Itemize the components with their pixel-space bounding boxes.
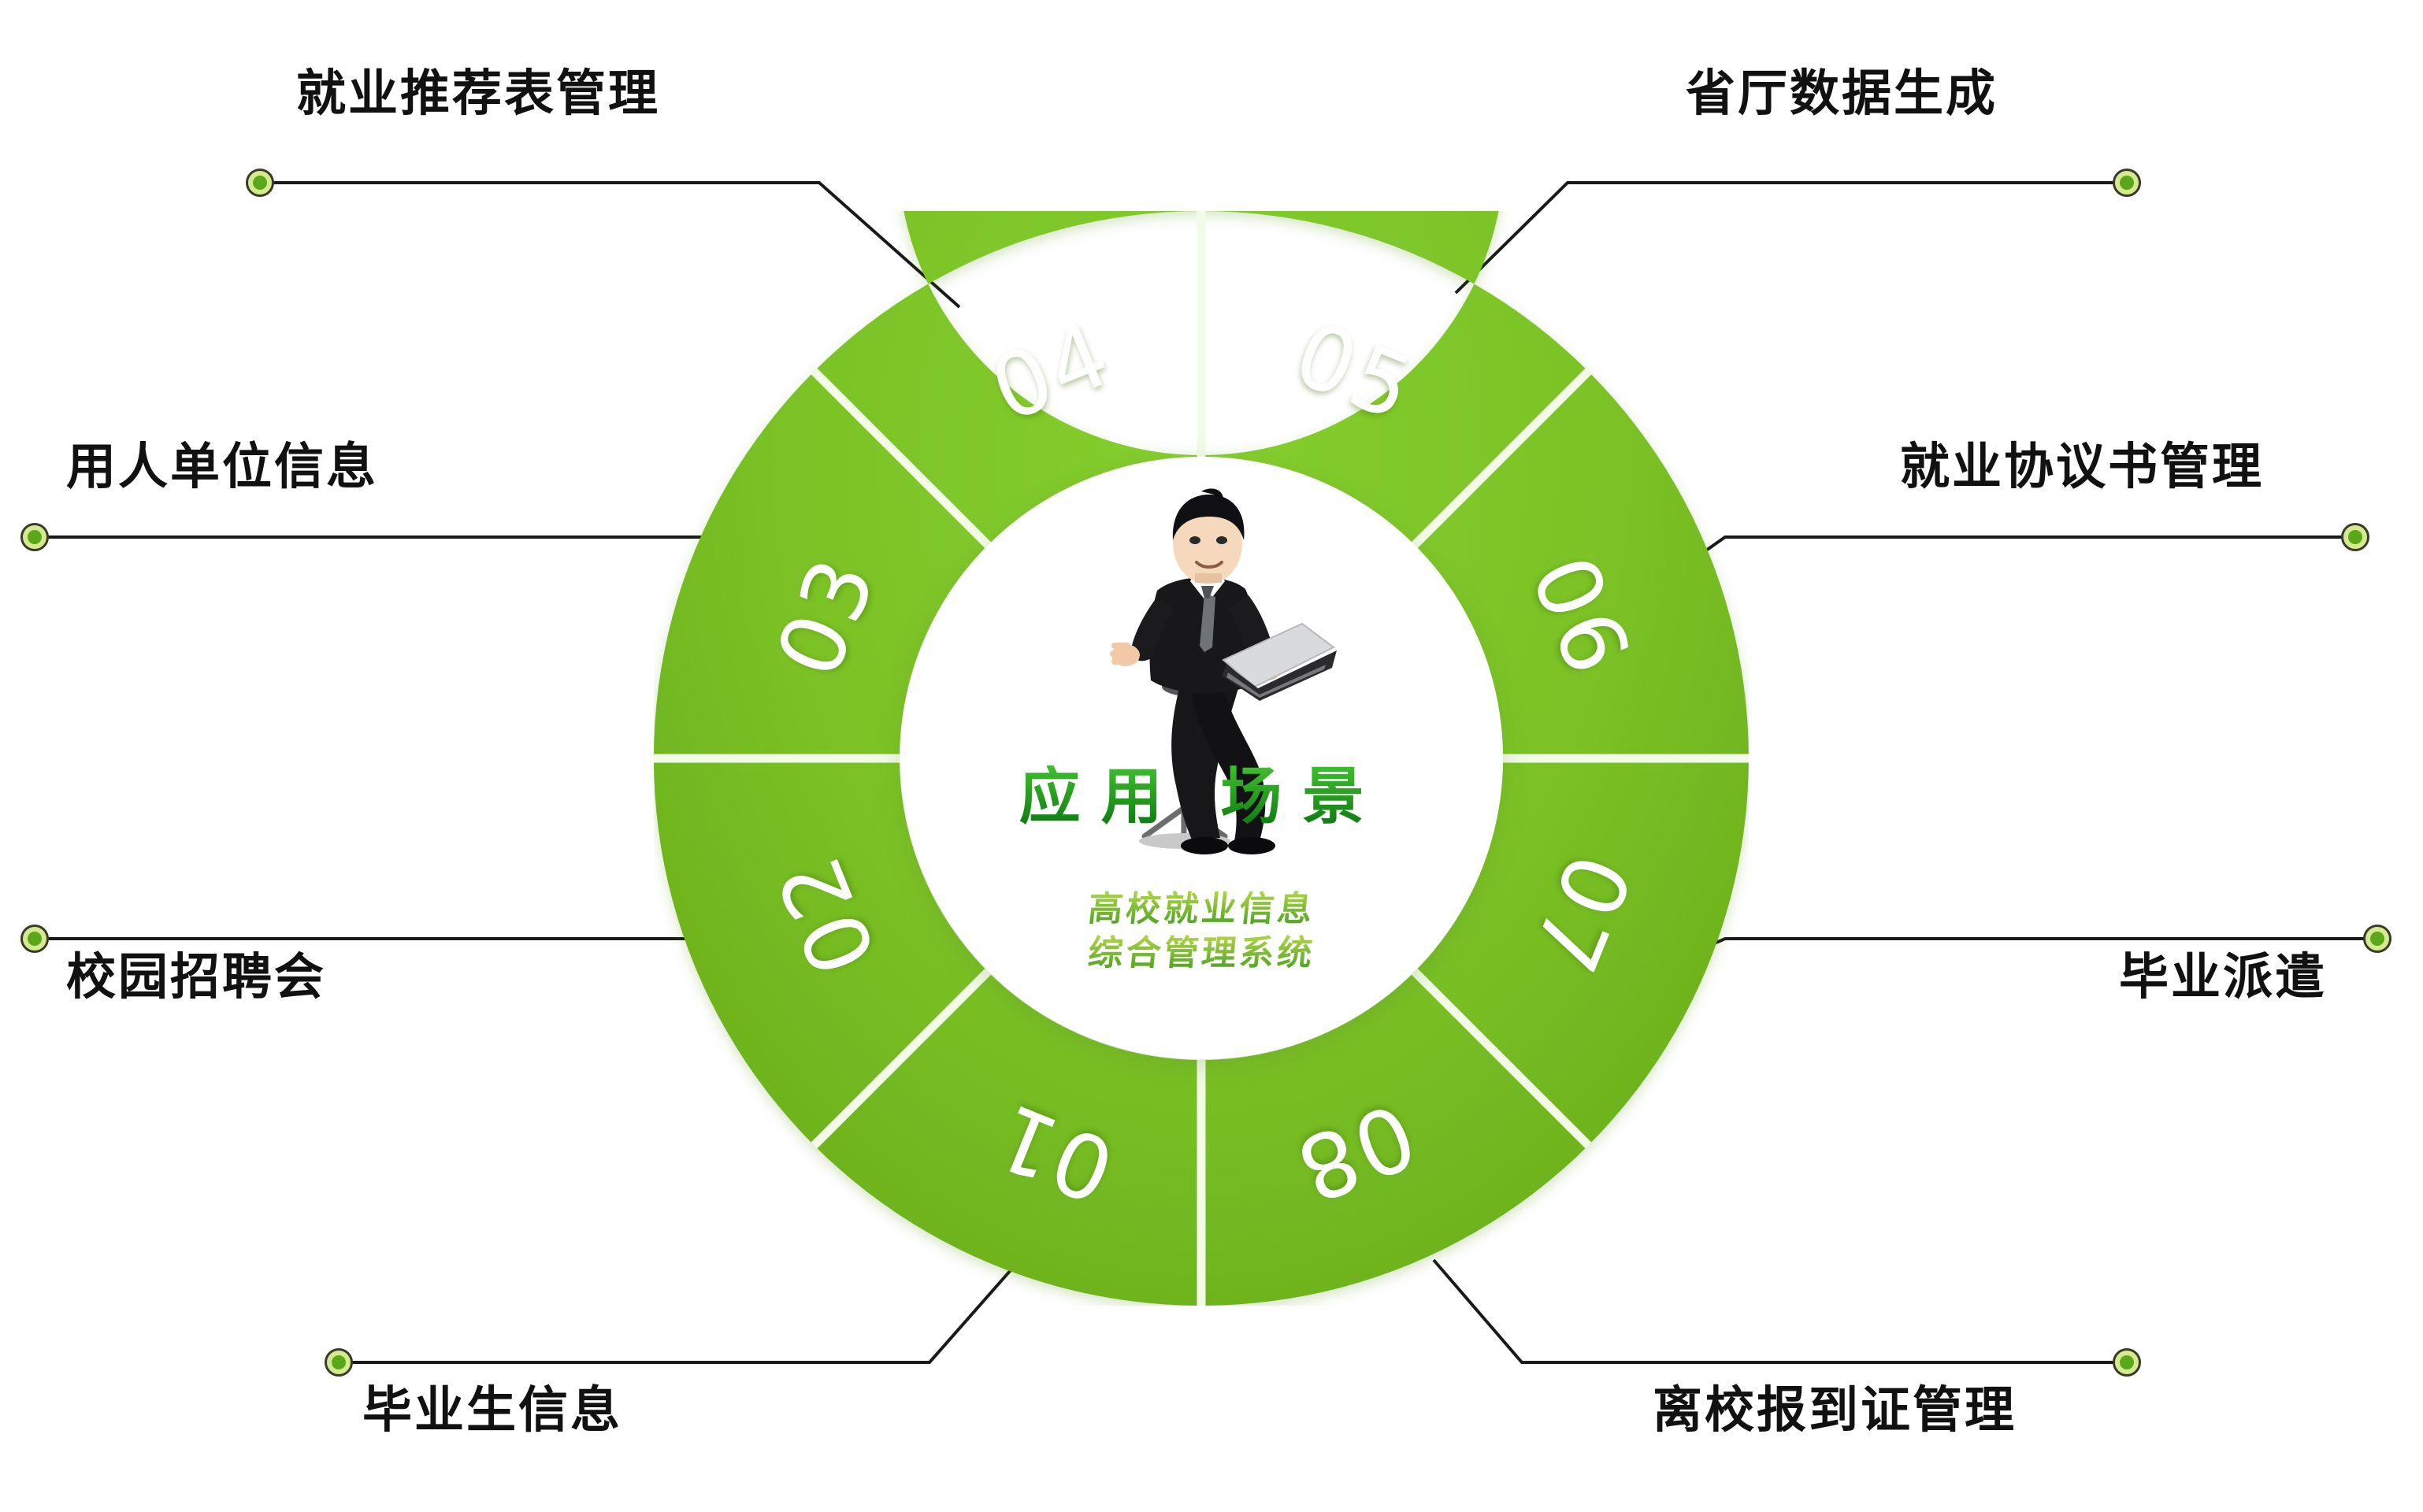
callout-label-02: 校园招聘会 (66, 953, 326, 1002)
callout-label-05: 省厅数据生成 (1686, 69, 1998, 119)
bullet-dot-01 (325, 1348, 353, 1377)
callout-07[interactable]: 毕业派遣 (2119, 953, 2327, 1002)
callout-05[interactable]: 省厅数据生成 (1686, 69, 1998, 119)
callout-03[interactable]: 用人单位信息 (66, 443, 378, 492)
diagram-canvas: 04 05 03 06 02 07 01 08 (0, 0, 2423, 1512)
callout-08[interactable]: 离校报到证管理 (1653, 1386, 2017, 1436)
bullet-dot-08 (2113, 1348, 2141, 1377)
callout-label-08: 离校报到证管理 (1653, 1386, 2017, 1436)
bullet-dot-07 (2363, 925, 2391, 953)
center-hub: 应用 场景 高校就业信息 综合管理系统 (900, 457, 1503, 1059)
center-subtitle-line2: 综合管理系统 (900, 932, 1503, 975)
bullet-dot-05 (2113, 169, 2141, 197)
callout-04[interactable]: 就业推荐表管理 (296, 69, 660, 119)
center-subtitle-line1: 高校就业信息 (900, 888, 1503, 931)
callout-label-03: 用人单位信息 (66, 443, 378, 492)
callout-label-01: 毕业生信息 (362, 1386, 622, 1436)
callout-02[interactable]: 校园招聘会 (66, 953, 326, 1002)
bullet-dot-03 (20, 523, 49, 551)
bullet-dot-04 (246, 169, 274, 197)
center-title: 应用 场景 (900, 765, 1503, 827)
bullet-dot-06 (2341, 523, 2369, 551)
bullet-dot-02 (20, 925, 49, 953)
callout-label-04: 就业推荐表管理 (296, 69, 660, 119)
callout-label-07: 毕业派遣 (2119, 953, 2327, 1002)
callout-label-06: 就业协议书管理 (1900, 443, 2264, 492)
callout-06[interactable]: 就业协议书管理 (1900, 443, 2264, 492)
callout-01[interactable]: 毕业生信息 (362, 1386, 622, 1436)
